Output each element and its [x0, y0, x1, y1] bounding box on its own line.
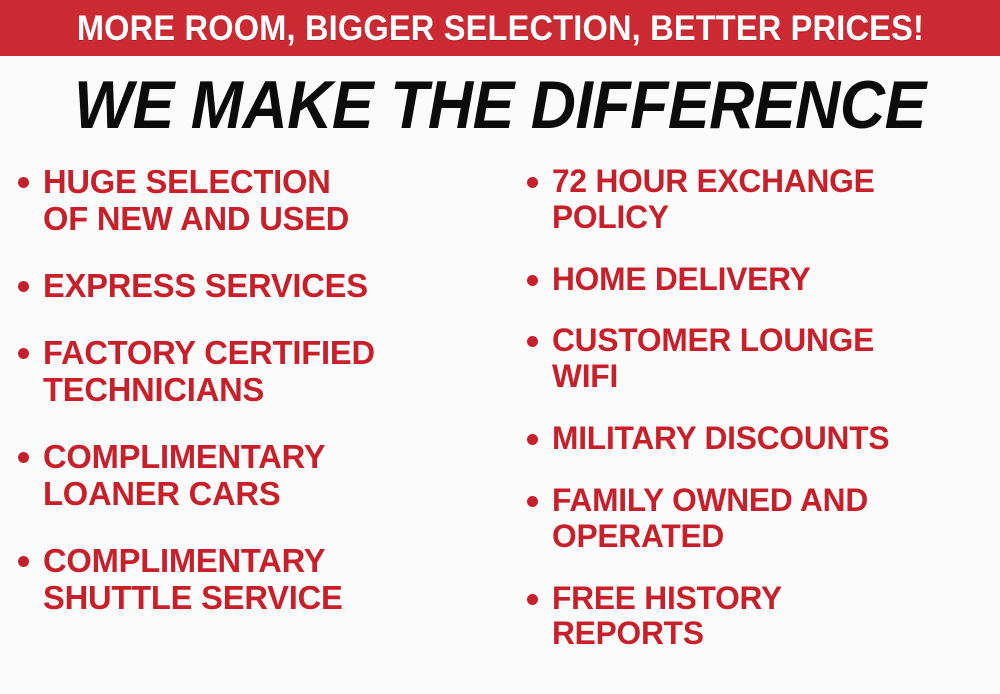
bullet-dot-icon [18, 348, 29, 359]
list-item: HUGE SELECTION OF NEW AND USED [18, 164, 505, 238]
list-item-label: MILITARY DISCOUNTS [552, 421, 889, 457]
promo-banner: MORE ROOM, BIGGER SELECTION, BETTER PRIC… [0, 0, 1000, 56]
headline-container: WE MAKE THE DIFFERENCE [0, 62, 1000, 148]
list-item: MILITARY DISCOUNTS [527, 421, 1000, 457]
bullet-dot-icon [18, 452, 29, 463]
benefits-column-left: HUGE SELECTION OF NEW AND USED EXPRESS S… [0, 152, 505, 647]
page-title: WE MAKE THE DIFFERENCE [74, 71, 926, 139]
bullet-dot-icon [527, 177, 538, 188]
promo-banner-text: MORE ROOM, BIGGER SELECTION, BETTER PRIC… [76, 11, 923, 46]
list-item: FACTORY CERTIFIED TECHNICIANS [18, 335, 505, 409]
list-item-label: COMPLIMENTARY LOANER CARS [43, 439, 325, 513]
benefits-columns: HUGE SELECTION OF NEW AND USED EXPRESS S… [0, 152, 1000, 694]
list-item-label: FACTORY CERTIFIED TECHNICIANS [43, 335, 375, 409]
bullet-dot-icon [18, 281, 29, 292]
bullet-dot-icon [18, 177, 29, 188]
bullet-dot-icon [527, 496, 538, 507]
bullet-dot-icon [527, 336, 538, 347]
list-item-label: FAMILY OWNED AND OPERATED [552, 483, 868, 555]
list-item: FAMILY OWNED AND OPERATED [527, 483, 1000, 555]
list-item-label: COMPLIMENTARY SHUTTLE SERVICE [43, 543, 343, 617]
benefits-column-right: 72 HOUR EXCHANGE POLICY HOME DELIVERY CU… [505, 152, 1000, 678]
list-item-label: FREE HISTORY REPORTS [552, 581, 782, 653]
list-item: COMPLIMENTARY LOANER CARS [18, 439, 505, 513]
list-item-label: HOME DELIVERY [552, 262, 811, 298]
list-item: EXPRESS SERVICES [18, 268, 505, 305]
list-item: HOME DELIVERY [527, 262, 1000, 298]
list-item-label: 72 HOUR EXCHANGE POLICY [552, 164, 875, 236]
list-item: CUSTOMER LOUNGE WIFI [527, 323, 1000, 395]
bullet-dot-icon [527, 594, 538, 605]
list-item: COMPLIMENTARY SHUTTLE SERVICE [18, 543, 505, 617]
list-item: 72 HOUR EXCHANGE POLICY [527, 164, 1000, 236]
bullet-dot-icon [18, 556, 29, 567]
list-item: FREE HISTORY REPORTS [527, 581, 1000, 653]
bullet-dot-icon [527, 434, 538, 445]
list-item-label: EXPRESS SERVICES [43, 268, 368, 305]
list-item-label: HUGE SELECTION OF NEW AND USED [43, 164, 349, 238]
list-item-label: CUSTOMER LOUNGE WIFI [552, 323, 874, 395]
bullet-dot-icon [527, 275, 538, 286]
